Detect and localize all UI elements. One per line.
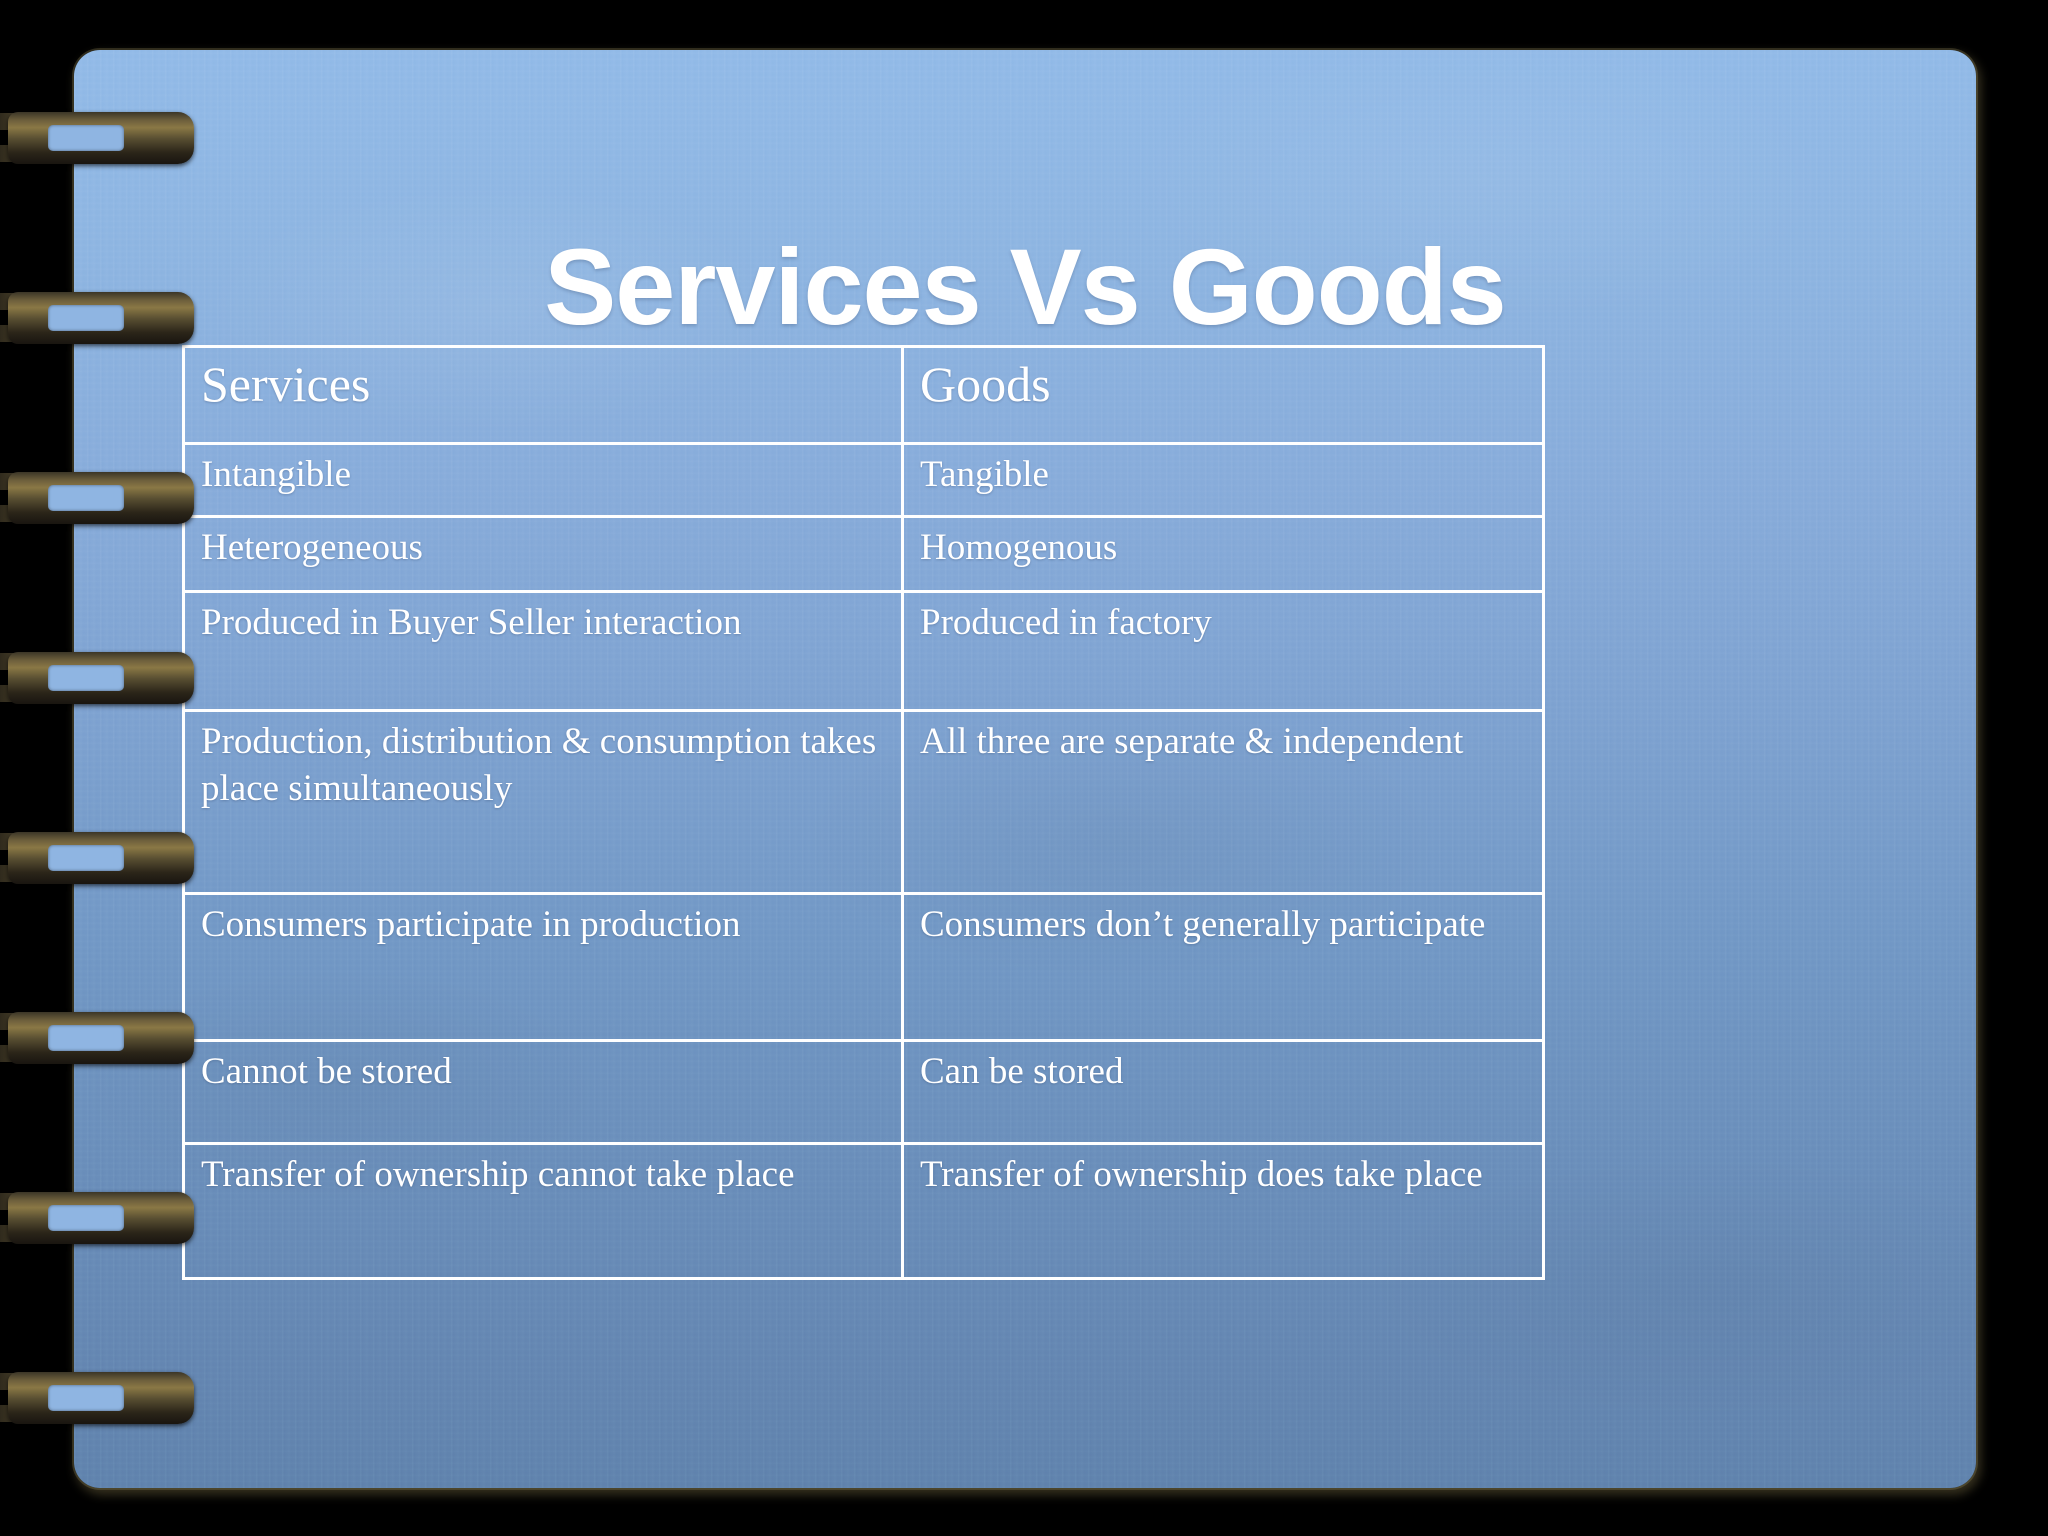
spiral-binding-ring [8,292,194,344]
table-row: Heterogeneous Homogenous [184,517,1544,592]
cell-goods: All three are separate & independent [903,711,1544,894]
cell-services: Transfer of ownership cannot take place [184,1144,903,1279]
spiral-binding-ring [8,652,194,704]
ring-aperture [48,1025,124,1051]
cell-services: Consumers participate in production [184,894,903,1041]
cell-services: Intangible [184,444,903,517]
table-row: Consumers participate in production Cons… [184,894,1544,1041]
ring-aperture [48,125,124,151]
spiral-binding-ring [8,1192,194,1244]
cell-goods: Can be stored [903,1041,1544,1144]
table-row: Transfer of ownership cannot take place … [184,1144,1544,1279]
spiral-binding-ring [8,1372,194,1424]
table-header-row: Services Goods [184,347,1544,444]
comparison-table-container: Services Goods Intangible Tangible Heter… [182,345,1542,1280]
cell-services: Cannot be stored [184,1041,903,1144]
column-header-services: Services [184,347,903,444]
slide: Services Vs Goods Services Goods Intangi… [74,50,1976,1488]
table-row: Cannot be stored Can be stored [184,1041,1544,1144]
ring-aperture [48,1385,124,1411]
cell-services: Production, distribution & consumption t… [184,711,903,894]
table-row: Intangible Tangible [184,444,1544,517]
ring-aperture [48,485,124,511]
page-title: Services Vs Goods [74,230,1976,343]
cell-goods: Tangible [903,444,1544,517]
ring-aperture [48,1205,124,1231]
table-row: Produced in Buyer Seller interaction Pro… [184,592,1544,711]
cell-goods: Produced in factory [903,592,1544,711]
services-vs-goods-table: Services Goods Intangible Tangible Heter… [182,345,1545,1280]
cell-goods: Homogenous [903,517,1544,592]
cell-goods: Consumers don’t generally participate [903,894,1544,1041]
spiral-binding-ring [8,472,194,524]
cell-goods: Transfer of ownership does take place [903,1144,1544,1279]
cell-services: Heterogeneous [184,517,903,592]
ring-aperture [48,845,124,871]
ring-aperture [48,665,124,691]
ring-aperture [48,305,124,331]
spiral-binding-ring [8,112,194,164]
spiral-binding-ring [8,832,194,884]
spiral-binding-ring [8,1012,194,1064]
column-header-goods: Goods [903,347,1544,444]
cell-services: Produced in Buyer Seller interaction [184,592,903,711]
table-row: Production, distribution & consumption t… [184,711,1544,894]
presentation-canvas: Services Vs Goods Services Goods Intangi… [0,0,2048,1536]
